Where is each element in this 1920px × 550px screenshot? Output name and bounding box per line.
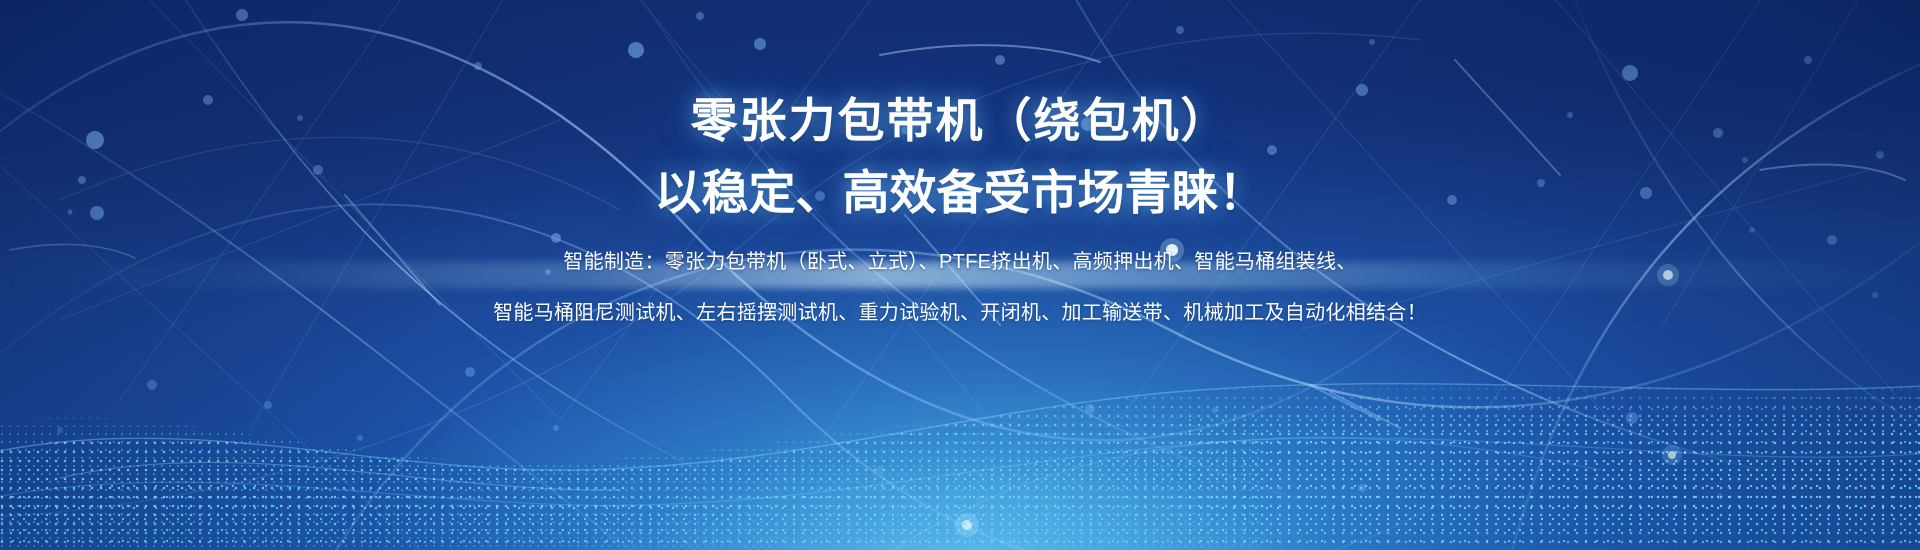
description-block: 智能制造：零张力包带机（卧式、立式）、PTFE挤出机、高频押出机、智能马桶组装线… <box>493 252 1427 323</box>
headline-block: 零张力包带机（绕包机） 以稳定、高效备受市场青睐！ <box>655 97 1266 216</box>
description-line-1: 智能制造：零张力包带机（卧式、立式）、PTFE挤出机、高频押出机、智能马桶组装线… <box>493 252 1427 272</box>
hero-banner: 零张力包带机（绕包机） 以稳定、高效备受市场青睐！ 智能制造：零张力包带机（卧式… <box>0 0 1920 550</box>
headline-line-2: 以稳定、高效备受市场青睐！ <box>655 169 1266 216</box>
headline-line-1: 零张力包带机（绕包机） <box>655 97 1266 144</box>
banner-content: 零张力包带机（绕包机） 以稳定、高效备受市场青睐！ 智能制造：零张力包带机（卧式… <box>0 0 1920 550</box>
description-line-2: 智能马桶阻尼测试机、左右摇摆测试机、重力试验机、开闭机、加工输送带、机械加工及自… <box>493 303 1427 323</box>
